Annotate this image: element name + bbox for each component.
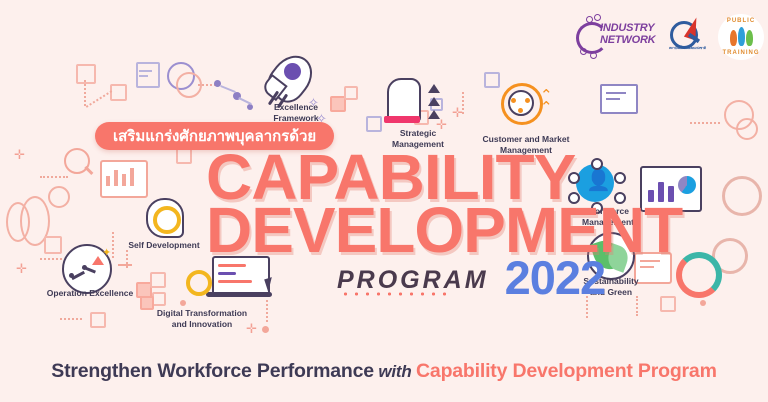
label-line-1: Excellence (238, 102, 354, 113)
decor-square (152, 292, 166, 306)
donut-chart-icon (676, 252, 722, 298)
person-figure-icon (738, 27, 745, 46)
decor-dotted-line (40, 176, 68, 178)
decor-line (640, 266, 654, 268)
decor-circle (48, 186, 70, 208)
gear-icon (722, 176, 762, 216)
decor-line (139, 70, 152, 72)
node-dot-icon (594, 14, 601, 21)
logo-row: INDUSTRY NETWORK สถาบันเพิ่มผลผลิตแห่งชา… (572, 14, 762, 62)
logo-public-bottom-text: TRAINING (718, 50, 764, 56)
label-line-1: Digital Transformation (132, 308, 272, 319)
headline-development: DEVELOPMENT (206, 203, 682, 258)
label-operation-excellence: Operation Excellence (28, 288, 152, 299)
gear-icon (184, 268, 212, 296)
decor-line (130, 168, 134, 186)
magnifier-handle-icon (85, 166, 94, 175)
person-figure-icon (746, 30, 753, 46)
logo-industry-network: INDUSTRY NETWORK (572, 14, 664, 60)
label-line-1: Operation Excellence (28, 288, 152, 299)
triangle-marker-icon (428, 84, 442, 124)
chart-point (69, 273, 74, 278)
sparkle-icon: ✛ (14, 148, 25, 161)
node-dot (511, 98, 516, 103)
decor-square (110, 84, 127, 101)
decor-square (660, 296, 676, 312)
label-line-1: Self Development (118, 240, 210, 251)
knight-base (384, 116, 420, 123)
decor-square (344, 86, 358, 100)
decor-dotted-line (690, 122, 720, 124)
chess-knight-icon (382, 78, 426, 126)
triangle (428, 110, 440, 119)
rocket-window (284, 63, 301, 80)
decor-circle (176, 72, 202, 98)
decor-dot (700, 300, 706, 306)
screen-line (218, 272, 236, 275)
label-line-1: Strategic (358, 128, 478, 139)
decor-square (136, 62, 160, 88)
chart-point (82, 265, 87, 270)
triangle (428, 97, 440, 106)
decor-line (106, 176, 110, 186)
rocket-icon (258, 52, 320, 102)
node-dot-icon (580, 48, 587, 55)
decor-square (76, 64, 96, 84)
sparkle-icon: ✛ (452, 106, 463, 119)
program-dotted-underline (340, 292, 452, 296)
decor-dotted-line (60, 318, 82, 320)
growth-chart-icon: ✦ (60, 244, 114, 292)
decor-line (118, 264, 132, 266)
decor-square (90, 312, 106, 328)
screen-line (218, 280, 252, 283)
gear-icon (712, 238, 748, 274)
decor-dotted-line (198, 84, 220, 86)
decor-dot (214, 80, 221, 87)
decor-line (220, 85, 236, 93)
decor-line (606, 92, 626, 94)
gear-ring (186, 270, 212, 296)
decor-dotted-line (84, 80, 86, 106)
footer-text-with: with (378, 362, 411, 381)
decor-dotted-line (86, 90, 113, 108)
decor-line (122, 174, 126, 186)
sparkle-icon: ✛ (16, 262, 27, 275)
node-dot (525, 98, 530, 103)
logo-public-training: PUBLIC TRAINING (718, 14, 764, 60)
logo-public-top-text: PUBLIC (718, 18, 764, 24)
footer-text-highlight: Capability Development Program (416, 360, 717, 382)
customer-network-icon (498, 80, 544, 126)
label-digital-transformation-and-innovation: Digital Transformation and Innovation (132, 308, 272, 329)
sparkle-icon: ✦ (102, 246, 111, 259)
capability-development-banner: ✧ ✧ ✛ ✛ ⊣ ⌃ ⌃ (0, 0, 768, 402)
triangle (428, 84, 440, 93)
waveform-card (100, 160, 148, 198)
person-figure-icon (730, 30, 737, 46)
decor-dot (233, 92, 241, 100)
decor-circle (736, 118, 758, 140)
headline-program: PROGRAM (337, 266, 489, 295)
headline-block: CAPABILITY DEVELOPMENT (206, 150, 682, 258)
node-dot-icon (586, 16, 593, 23)
magnifier-icon (64, 148, 90, 174)
decor-circle (724, 100, 754, 130)
decor-square (150, 272, 166, 288)
logo-thai-industry-institute: สถาบันเพิ่มผลผลิตแห่งชาติ (668, 14, 716, 60)
headline-year: 2022 (505, 254, 606, 301)
decor-screen (600, 84, 638, 114)
decor-dotted-line (636, 296, 638, 316)
logo-line-1: INDUSTRY (600, 23, 655, 35)
logo-line-2: NETWORK (600, 35, 655, 47)
node-dot-icon (590, 52, 597, 59)
thai-tagline-text: เสริมแกร่งศักยภาพบุคลากรด้วย (113, 124, 316, 148)
decor-dotted-line (40, 258, 62, 260)
footer-tagline: Strengthen Workforce Performance with Ca… (0, 360, 768, 383)
logo-industry-network-text: INDUSTRY NETWORK (600, 23, 655, 46)
decor-circle (6, 202, 30, 242)
logo-caption: สถาบันเพิ่มผลผลิตแห่งชาติ (669, 46, 706, 51)
decor-line (114, 170, 118, 186)
decor-circle (167, 62, 195, 90)
laptop-base (206, 292, 272, 297)
decor-square (176, 148, 192, 164)
decor-dotted-line (126, 250, 128, 268)
decor-dotted-line (462, 92, 464, 114)
label-line-2: and Innovation (132, 319, 272, 330)
decor-dot (180, 300, 186, 306)
label-self-development: Self Development (118, 240, 210, 251)
footer-text-primary: Strengthen Workforce Performance (51, 360, 374, 382)
label-excellence-framework: Excellence Framework (238, 102, 354, 123)
decor-circle (20, 196, 50, 246)
decor-line (606, 98, 620, 100)
gear-icon (153, 206, 181, 234)
node-dot (518, 108, 523, 113)
decor-line (139, 75, 148, 77)
head-gear-icon (140, 196, 186, 238)
thai-tagline-pill: เสริมแกร่งศักยภาพบุคลากรด้วย (95, 122, 334, 150)
